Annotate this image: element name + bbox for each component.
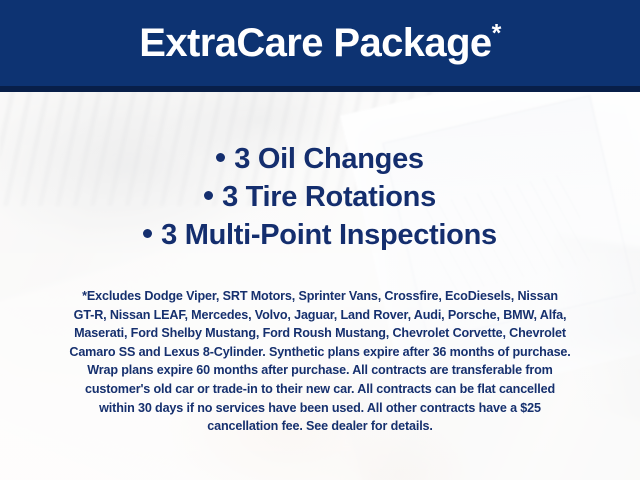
disclaimer-line: GT-R, Nissan LEAF, Mercedes, Volvo, Jagu… bbox=[24, 306, 616, 325]
bullet-dot-icon bbox=[204, 191, 213, 200]
header-banner: ExtraCare Package* bbox=[0, 0, 640, 92]
header-banner-bottom-edge bbox=[0, 86, 640, 92]
page-title: ExtraCare Package* bbox=[139, 23, 500, 63]
benefit-item: 3 Oil Changes bbox=[0, 140, 640, 178]
benefit-item-label: 3 Tire Rotations bbox=[222, 181, 436, 213]
disclaimer-line: Camaro SS and Lexus 8-Cylinder. Syntheti… bbox=[24, 343, 616, 362]
benefits-list: 3 Oil Changes 3 Tire Rotations 3 Multi-P… bbox=[0, 140, 640, 254]
extracare-package-ad: ExtraCare Package* 3 Oil Changes 3 Tire … bbox=[0, 0, 640, 480]
disclaimer-line: customer's old car or trade-in to their … bbox=[24, 380, 616, 399]
bullet-dot-icon bbox=[143, 229, 152, 238]
page-title-text: ExtraCare Package bbox=[139, 21, 491, 65]
disclaimer-line: *Excludes Dodge Viper, SRT Motors, Sprin… bbox=[24, 287, 616, 306]
benefit-item: 3 Multi-Point Inspections bbox=[0, 216, 640, 254]
disclaimer-text: *Excludes Dodge Viper, SRT Motors, Sprin… bbox=[24, 287, 616, 436]
disclaimer-line: Maserati, Ford Shelby Mustang, Ford Rous… bbox=[24, 324, 616, 343]
disclaimer-line: Wrap plans expire 60 months after purcha… bbox=[24, 361, 616, 380]
disclaimer-line: cancellation fee. See dealer for details… bbox=[24, 417, 616, 436]
benefit-item: 3 Tire Rotations bbox=[0, 178, 640, 216]
benefit-item-label: 3 Oil Changes bbox=[234, 143, 424, 175]
disclaimer-line: within 30 days if no services have been … bbox=[24, 399, 616, 418]
page-title-asterisk: * bbox=[492, 20, 501, 48]
benefit-item-label: 3 Multi-Point Inspections bbox=[161, 219, 497, 251]
header-banner-content: ExtraCare Package* bbox=[0, 0, 640, 86]
bullet-dot-icon bbox=[216, 153, 225, 162]
